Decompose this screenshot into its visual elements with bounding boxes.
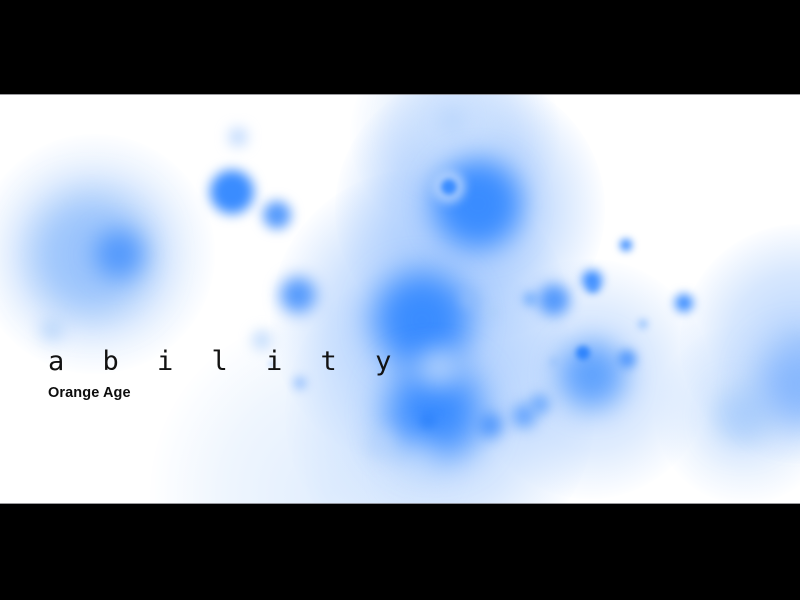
dot-right-of-big [523,292,537,306]
dot-big-right-core [576,346,590,360]
title-card-frame: a b i l i t y Orange Age [0,0,800,600]
wash-top-center [350,94,560,239]
disc-top-faint-core [439,108,465,134]
disc-upper-mid [210,170,254,214]
wash-left [0,134,215,374]
letterbox-edge-top [0,94,800,95]
letterbox-bar-top [0,0,800,94]
disc-big-center [374,272,470,368]
dot-bottom-core [420,413,436,429]
wash-mid [270,169,570,469]
dot-center-left [253,331,271,349]
title-block: a b i l i t y Orange Age [48,348,402,401]
page-title: a b i l i t y [48,348,402,375]
dot-left-of-big-right [550,358,558,366]
disc-big-upper [434,160,522,248]
wash-center [335,94,605,344]
disc-left-pale [30,193,154,317]
disc-top-faint [410,94,500,169]
disc-bottom-faint [396,442,440,486]
dot-big-right-edge [618,350,636,368]
disc-right-mid-hi [582,270,602,290]
dot-near-center-hi [462,291,478,307]
disc-right-edge [758,342,800,426]
dot-right-small [588,282,598,292]
dot-upper-halo-core [441,179,457,195]
disc-right-mid [538,284,570,316]
dot-right-upper [620,239,632,251]
disc-big-bottom [386,364,482,460]
letterbox-edge-bottom [0,503,800,504]
dot-right-tiny [639,320,647,328]
subtitle: Orange Age [48,386,402,401]
disc-bottom-left-pale [367,431,393,457]
wash-bottom [150,314,510,504]
disc-center-mid [280,277,316,313]
dot-tiny-left [269,361,275,367]
wash-far-right [680,224,800,464]
disc-lower-left-pair2 [512,404,536,428]
disc-left-core [95,230,143,278]
dot-upper-left-pale [229,128,247,146]
dot-near-center-lo [487,307,497,317]
disc-big-right [559,342,625,408]
disc-upper-mid-small [263,201,291,229]
dot-bottom-notch [418,348,458,388]
ring-upper-halo [433,171,465,203]
disc-right-low-pale [714,388,770,444]
letterbox-bar-bottom [0,504,800,600]
disc-right-far [675,294,693,312]
disc-bottom-right [478,413,502,437]
wash-right-low [655,324,800,504]
dot-below-text [294,377,306,389]
wash-right [470,259,710,499]
wash-lower [285,259,595,504]
disc-lower-left-pair1 [530,394,550,414]
artwork-canvas: a b i l i t y Orange Age [0,94,800,504]
disc-left-small [41,319,63,341]
